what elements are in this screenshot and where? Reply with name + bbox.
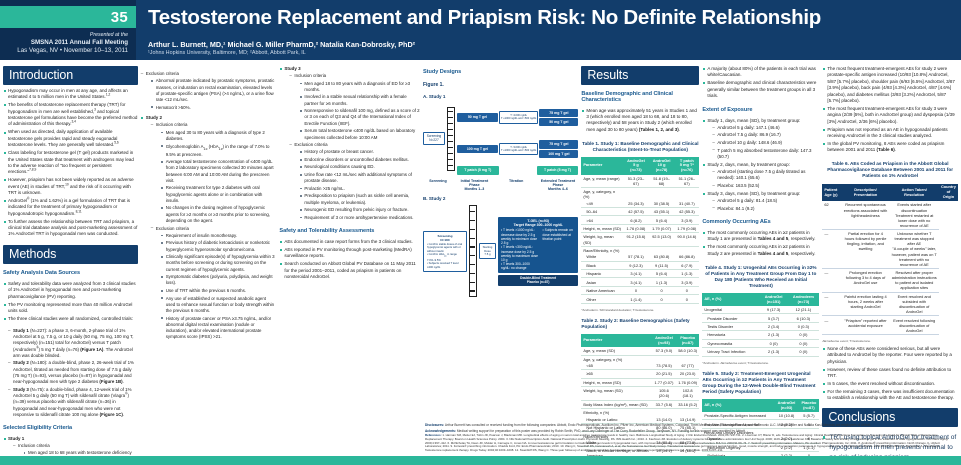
poster-number-band: 35	[0, 6, 136, 28]
references-text: 1. Harman SM, Metter EJ, Tobin JD, Pears…	[425, 433, 948, 452]
fig1a-phase-initial: Initial TreatmentPhaseMonths 1–3	[454, 179, 495, 192]
table-cell: Weight, kg, mean (SD)	[581, 387, 652, 401]
table-row: Prostate-Specific Antigen Increased10 (1…	[702, 412, 819, 420]
table-cell	[674, 246, 699, 253]
column-4-figures: Study Designs Figure 1. A. Study 1 Scree…	[423, 66, 578, 462]
table-row: Urinary Tract Infection2 (1.3)0 (0)	[702, 348, 819, 356]
table-cell: Height, m, mean (SD)	[581, 224, 623, 232]
table-cell: 51.8 (19–68)	[649, 175, 675, 188]
table-cell: "Priapism" reported after accidental exp…	[841, 316, 889, 335]
table-cell: Native American	[581, 286, 623, 294]
list-item: Glycohemoglobin A1c (HbA1c) in the range…	[161, 144, 277, 158]
table1: ParameterAndroGel5 g(n=73)AndroGel10 g(n…	[581, 157, 699, 304]
list-item: The most frequent treatment-emergent AEs…	[822, 106, 958, 125]
list-item: Class labeling for testosterone gel (T g…	[3, 150, 138, 176]
study1-exclusion-list: Abnormal prostate indicated by prostatic…	[151, 78, 277, 111]
table-cell: 0 (0)	[787, 331, 819, 339]
table-cell: 102.8 (18.1)	[676, 387, 699, 401]
table-cell: Hispanic	[581, 270, 623, 278]
list-item: Any use of established or suspected anab…	[161, 296, 277, 315]
section-methods-banner: Methods	[3, 245, 138, 264]
table-cell: 42 (57.5)	[623, 207, 649, 215]
list-item: To further assess the relationship betwe…	[3, 219, 138, 238]
table-cell: 31 (40.7)	[674, 199, 699, 207]
table-row: Age, y, category, n (%)	[581, 355, 699, 362]
table-cell: 2 (1.3)	[760, 331, 788, 339]
table-cell: 51.1 (26–67)	[674, 175, 699, 188]
table-cell: 0 (0.3)	[787, 322, 819, 330]
fig1b-tgel-box: T-GEL (n=93)Target Range 300–1000 ng/dL …	[498, 217, 578, 273]
table-cell: —	[822, 268, 841, 292]
table4-body: Urogenital9 (17.3)12 (21.1)Prostate Diso…	[702, 306, 819, 356]
table1-body: Age, y, mean (range)51.3 (23–67)51.8 (19…	[581, 175, 699, 304]
final-bullets: None of these AEs were considered seriou…	[822, 346, 958, 403]
table-cell: 5 (6.4)	[649, 216, 675, 224]
table-cell	[623, 188, 649, 200]
table-cell: 3 (3.9)	[674, 216, 699, 224]
table-cell	[652, 409, 676, 416]
list-item: Average total testosterone concentration…	[161, 159, 277, 184]
table-cell: 1 (1.3)	[674, 270, 699, 278]
table-cell: Testis Disorder	[702, 322, 759, 330]
table-cell: 1.79 (0.08)	[674, 224, 699, 232]
table-cell: 0	[674, 295, 699, 303]
introduction-bullets: Hypogonadism may occur in men at any age…	[3, 88, 138, 239]
table-cell: 105.6 (20.6)	[652, 387, 676, 401]
table-row: White57 (78.1)63 (80.8)66 (86.8)	[581, 253, 699, 261]
table-cell: Unknown whether T treatment was stopped …	[890, 230, 939, 269]
presented-at-label: Presented at the	[4, 32, 128, 39]
table-cell: Other	[581, 295, 623, 303]
table-cell: 9 (12.3)	[623, 261, 649, 269]
list-item: No changes in the dosing regimen of hypo…	[161, 205, 277, 224]
poster-title: Testosterone Replacement and Priapism Ri…	[148, 7, 951, 29]
table-cell	[676, 409, 699, 416]
table-cell: Partial erection for 4 hours followed by…	[841, 230, 889, 269]
study1-exclusion-label: Exclusion criteria	[146, 71, 179, 76]
table-cell: Recurrent spontaneous erections associat…	[841, 201, 889, 229]
poster-header: 35 Presented at the SMSNA 2011 Annual Fa…	[0, 0, 961, 62]
table-cell: Weight, kg, mean (SD)	[581, 233, 623, 247]
table1-footnote: *Androderm. SD=standard deviation; T=tes…	[581, 308, 699, 312]
table-cell: 9 (17.3)	[760, 306, 788, 314]
list-item: AndroGel 7.5 g daily: 86.9 (16.7)	[712, 132, 819, 138]
list-item: Clinically significant episode(s) of hyp…	[161, 254, 277, 273]
table-cell: Ethnicity, n (%)	[581, 409, 652, 416]
table1-header-row: ParameterAndroGel5 g(n=73)AndroGel10 g(n…	[581, 157, 699, 174]
study2-block: Study 2 Inclusion criteria Men aged 30 t…	[141, 115, 277, 342]
study2-inclusion-group: Inclusion criteria Men aged 30 to 80 yea…	[151, 122, 277, 340]
table-cell: Hematuria	[702, 331, 759, 339]
study3-label: Study 3	[284, 66, 300, 71]
study1-exclusion-group: Exclusion criteria Abnormal prostate ind…	[141, 71, 277, 112]
table4: AE, n (%)AndroGel(n=151)Androderm(n=73) …	[702, 293, 819, 356]
study3-exclusion-label: Exclusion criteria	[294, 142, 327, 147]
header-left-panel: 35 Presented at the SMSNA 2011 Annual Fa…	[0, 0, 136, 60]
column-header: Androderm(n=73)	[787, 293, 819, 306]
table-row: Other1 (1.4)00	[581, 295, 699, 303]
table-cell: 1.76 (0.09)	[676, 378, 699, 386]
table-cell: Event resolved and subsided with discont…	[890, 292, 939, 316]
table-cell: 6 (10.3)	[787, 314, 819, 322]
column-header: Placebo(n=87)	[676, 334, 699, 347]
table-cell	[676, 355, 699, 362]
table-cell: ≥65	[581, 370, 652, 378]
table-cell: 3 (3.9)	[674, 278, 699, 286]
table-row: Hematuria2 (1.3)0 (0)	[702, 331, 819, 339]
table-row: <4925 (34.3)30 (38.5)31 (40.7)	[581, 199, 699, 207]
table-cell	[649, 246, 675, 253]
list-item: For the remaining 3 cases, there was ins…	[822, 389, 958, 402]
table-row: —Painful erection lasting 4 hours, 2 wee…	[822, 292, 958, 316]
table-cell	[652, 355, 676, 362]
figure1-label: Figure 1.	[423, 82, 578, 88]
column-1: Introduction Hypogonadism may occur in m…	[3, 66, 138, 462]
fig1b-randomization-ladder	[469, 205, 477, 297]
list-item: AndroGel 10 g daily: 148.6 (46.9)	[712, 140, 819, 146]
table-row: Age, y, category, n (%)	[581, 188, 699, 200]
table-row: Black9 (12.3)9 (11.5)6 (7.9)	[581, 261, 699, 269]
column-header: Description/Presentation	[841, 184, 889, 201]
table-cell: 62	[822, 201, 841, 229]
table-cell: Painful erection lasting 4 hours, 2 week…	[841, 292, 889, 316]
study3-block: Study 3 Inclusion criteria Men aged 18 t…	[279, 66, 420, 222]
column-2: Exclusion criteria Abnormal prostate ind…	[141, 66, 277, 462]
table-cell: Race/Ethnicity, n (%)	[581, 246, 623, 253]
column-header: T patch5 mg T*(n=76)	[674, 157, 699, 174]
column-header: AndroGel5 g(n=73)	[623, 157, 649, 174]
exposure-study2-list: AndroGel (starting dose 7.5 g daily titr…	[712, 169, 819, 189]
table-cell: 10 (10.8)	[775, 412, 799, 420]
table-cell: 51.3 (23–67)	[623, 175, 649, 188]
table6-caption: Table 6. AEs Coded as Priapism in the Ab…	[822, 161, 958, 179]
list-item: History of prostate or breast cancer.	[299, 149, 420, 155]
table-cell: —	[822, 316, 841, 335]
study2-exclusion-list: Requirement of insulin monotherapy.Previ…	[161, 233, 277, 341]
list-item: Use of TRT within the previous 6 months.	[161, 288, 277, 294]
affiliations: ¹Johns Hopkins University, Baltimore, MD…	[148, 50, 951, 57]
fig1a-arm-1: 50 mg T gel	[457, 113, 498, 121]
results-right-bullets: A majority (about 80%) of the patients i…	[702, 66, 819, 101]
study-designs-head: Study Designs	[423, 69, 578, 75]
column-5-results: Results Baseline Demographic and Clinica…	[581, 66, 699, 462]
fig1a-arm-2: 100 mg T gel	[457, 145, 498, 153]
study3-groups: Inclusion criteria Men aged 18 to 80 yea…	[289, 73, 420, 221]
table-row: Urogenital9 (17.3)12 (21.1)	[702, 306, 819, 314]
table-row: Age, y, mean (SD)57.3 (9.0)58.0 (10.3)	[581, 347, 699, 355]
list-item: AndroGel (starting dose 7.5 g daily titr…	[712, 169, 819, 182]
poster-body: Introduction Hypogonadism may occur in m…	[0, 62, 961, 465]
table-cell: 6 (8.2)	[623, 216, 649, 224]
list-item: Neurological conditions causing ED.	[299, 164, 420, 170]
safety-data-sources-bullets: Safety and tolerability data were analyz…	[3, 281, 138, 324]
table-cell: 3 (4.1)	[623, 278, 649, 286]
table-row: —Prolonged erection following 3 to 4 day…	[822, 268, 958, 292]
fig1a-phase-extended: Extended TreatmentPhaseMonths 4–6	[538, 179, 579, 192]
list-item: AndroGel 5 g daily: 81.4 (18.5)	[712, 198, 819, 204]
fig1a-ext-2: 50 mg T gel	[539, 118, 578, 126]
table-cell: 0	[649, 295, 675, 303]
table-row: —"Priapism" reported after accidental ex…	[822, 316, 958, 335]
list-item: Prolactin >25 ng/mL.	[299, 186, 420, 192]
table2-caption: Table 2. Study 2: Baseline Demographics …	[581, 318, 699, 330]
section-results-banner: Results	[581, 66, 699, 85]
table-cell: 57 (78.1)	[623, 253, 649, 261]
fig1a-phase-screening: Screening	[423, 179, 453, 192]
table-row: Body Mass Index (kg/m²), mean (SD)33.7 (…	[581, 400, 699, 408]
table4-header-row: AE, n (%)AndroGel(n=151)Androderm(n=73)	[702, 293, 819, 306]
table-row: Height, m, mean (SD)1.76 (0.08)1.79 (0.0…	[581, 224, 699, 232]
meeting-location-date: Las Vegas, NV • November 10–13, 2011	[4, 47, 128, 55]
table-cell: <65	[581, 362, 652, 370]
table-cell: 66 (86.8)	[674, 253, 699, 261]
list-item: AndroGel 5 g daily: 147.1 (46.6)	[712, 125, 819, 131]
list-item: Baseline demographic and clinical charac…	[702, 80, 819, 99]
fig1a-ext-4: 100 mg T gel	[539, 150, 578, 158]
table-row: Age, y, mean (range)51.3 (23–67)51.8 (19…	[581, 175, 699, 188]
fig1a-titration-2: T <1000 ng/dLT ≤1000 ng/dL and >500 ng/d…	[499, 143, 538, 155]
table-cell: 1 (1.3)	[649, 278, 675, 286]
exposure-study1-list: AndroGel 5 g daily: 147.1 (46.6)AndroGel…	[712, 125, 819, 160]
exposure-study3-label: Study 3, days, mean (SD), by treatment g…	[707, 191, 800, 196]
exposure-study2-label: Study 2, days, mean, by treatment group:	[707, 162, 790, 167]
fig1a-screening-box: ScreeningN=227	[423, 132, 445, 146]
table-row: Weight, kg, mean (SD)105.6 (20.6)102.8 (…	[581, 387, 699, 401]
fig1b-starting-dose: StartingDose7.5 g	[479, 243, 496, 259]
list-item: Safety and tolerability data were analyz…	[3, 281, 138, 300]
list-item: Study 3 (N=75): a double-blind, phase 4,…	[8, 387, 138, 418]
table-cell: Prolonged erection following 3 to 4 days…	[841, 268, 889, 292]
poster-number: 35	[111, 9, 128, 26]
column-header: AE, n (%)	[702, 399, 774, 412]
table1-caption: Table 1. Study 1: Baseline Demographic a…	[581, 141, 699, 153]
list-item: Symptomatic diabetes (polyuria, polydips…	[161, 274, 277, 287]
fig1b-screening-box: ScreeningN=180 • Confirm stable doses of…	[423, 231, 467, 272]
list-item: When used as directed, daily application…	[3, 129, 138, 148]
table-cell: Asian	[581, 278, 623, 286]
table-cell: 57.3 (9.0)	[652, 347, 676, 355]
exposure-study1-label: Study 1, days, mean (SD), by treatment g…	[707, 118, 800, 123]
disclosures-text: Arthur Burnett has consulted or received…	[445, 423, 871, 427]
table-row: Race/Ethnicity, n (%)	[581, 246, 699, 253]
study3-exclusion-list: History of prostate or breast cancer.End…	[299, 149, 420, 221]
list-item: In the global PV monitoring, 8 AEs were …	[822, 141, 958, 154]
table-row: Asian3 (4.1)1 (1.3)3 (3.9)	[581, 278, 699, 286]
column-header: Patient Age (y)	[822, 184, 841, 201]
list-item: The most frequent treatment-emergent AEs…	[822, 66, 958, 104]
table-cell: 73 (78.5)	[652, 362, 676, 370]
table-cell: 0	[649, 286, 675, 294]
column-header: AE, n (%)	[702, 293, 759, 306]
list-item: The PV monitoring represented more than …	[3, 302, 138, 315]
disclosures-label: Disclosures:	[425, 423, 444, 427]
table-row: ≥6520 (21.5)20 (23.0)	[581, 370, 699, 378]
table5-header-row: AE, n (%)AndroGel(n=93)Placebo(n=87)	[702, 399, 819, 412]
safety-assessments-bullets: AEs documented in case report forms from…	[279, 239, 420, 282]
common-aes-bullets: The most commonly occurring AEs in ≥2 pa…	[702, 230, 819, 259]
list-item: The benefits of testosterone replacement…	[3, 102, 138, 128]
table-cell: 1.76 (0.08)	[623, 224, 649, 232]
list-item: AEs documented in case report forms from…	[279, 239, 420, 245]
table5-caption: Table 5. Study 2: Treatment-Emergent Uro…	[702, 371, 819, 395]
list-item: Study 1 (N=227): a phase 3, 6-month, 2-p…	[8, 328, 138, 359]
table-cell: Resolved after proper administration ins…	[890, 268, 939, 292]
column-header: Parameter	[581, 157, 623, 174]
table-cell: 9 (11.5)	[649, 261, 675, 269]
disclosures-line: Disclosures: Arthur Burnett has consulte…	[425, 423, 955, 427]
list-item: Requirement of 3 or more antihypertensiv…	[299, 215, 420, 221]
list-item: History of prostate cancer or PSA ≥3.75 …	[161, 316, 277, 341]
list-item: Urine flow rate <12 mL/sec with addition…	[299, 172, 420, 185]
column-header: AndroGel(n=151)	[760, 293, 788, 306]
list-item: Nonresponsive to sildenafil 100 mg, defi…	[299, 108, 420, 127]
table-row: Testis Disorder2 (3.4)0 (0.3)	[702, 322, 819, 330]
poster-root: 35 Presented at the SMSNA 2011 Annual Fa…	[0, 0, 961, 465]
table-cell: Age, y, category, n (%)	[581, 188, 623, 200]
table-cell: 0 (0)	[787, 339, 819, 347]
list-item: None of these AEs were considered seriou…	[822, 346, 958, 365]
table6: Patient Age (y)Description/PresentationA…	[822, 184, 958, 335]
safety-data-sources-head: Safety Analysis Data Sources	[3, 270, 138, 276]
fig1a-phase-titration: Titration	[496, 179, 537, 192]
extent-of-exposure-head: Extent of Exposure	[702, 107, 819, 113]
list-item: Placebo: 84.1 (9.2)	[712, 206, 819, 212]
study3-inclusion-list: Men aged 18 to 80 years with a diagnosis…	[299, 81, 420, 141]
table-cell: 20 (21.5)	[652, 370, 676, 378]
table-cell: 33.7 (5.6)	[652, 400, 676, 408]
table-cell: 2 (1.3)	[760, 348, 788, 356]
table-cell: <49	[581, 199, 623, 207]
table-cell: 5 (6.4)	[649, 270, 675, 278]
column-header: Action Taken/Resolution	[890, 184, 939, 201]
table-cell: 0	[623, 286, 649, 294]
results-right-col-bullets: The most frequent treatment-emergent AEs…	[822, 66, 958, 155]
fig1a-arm-3: T patch (5 mg T)	[457, 166, 499, 174]
table-cell: Body Mass Index (kg/m²), mean (SD)	[581, 400, 652, 408]
figure1a-flowchart: ScreeningN=227 50 mg T gel T >1000 ng/dL…	[423, 103, 578, 175]
footer-accent-bar	[0, 456, 961, 465]
table-cell: Age, y, mean (SD)	[581, 347, 652, 355]
table-cell: 91.2 (15.6)	[623, 233, 649, 247]
list-item: Previous history of diabetic ketoacidosi…	[161, 240, 277, 253]
fig1b-placebo-box: Double-Blind TreatmentPlacebo (n=87)	[498, 275, 578, 287]
table-cell: 0	[674, 286, 699, 294]
table-row: Hispanic3 (4.1)5 (6.4)1 (1.3)	[581, 270, 699, 278]
exposure-study1: Study 1, days, mean (SD), by treatment g…	[702, 118, 819, 214]
table-cell: 30 (38.5)	[649, 199, 675, 207]
table-cell	[649, 188, 675, 200]
table-cell: 25 (34.3)	[623, 199, 649, 207]
study3-inclusion-label: Inclusion criteria	[294, 73, 326, 78]
list-item: Placebo: 163.5 (52.5)	[712, 183, 819, 189]
table4-footnote: *Androderm. AE=adverse event; T=testoste…	[702, 361, 819, 365]
column-7: The most frequent treatment-emergent AEs…	[822, 66, 958, 462]
list-item: AndroGel® (1% and 1.62%) is a gel formul…	[3, 198, 138, 217]
table-row: Prostate Disorder5 (3.7)6 (10.3)	[702, 314, 819, 322]
table-cell: —	[822, 230, 841, 269]
meeting-info: Presented at the SMSNA 2011 Annual Fall …	[0, 28, 136, 55]
figure1b-flowchart: ScreeningN=180 • Confirm stable doses of…	[423, 205, 578, 297]
table-cell: 12 (21.1)	[787, 306, 819, 314]
column-6: A majority (about 80%) of the patients i…	[702, 66, 819, 462]
table-cell: 20 (23.0)	[676, 370, 699, 378]
table-cell: 0 (0)	[760, 339, 788, 347]
table-cell: 1.77 (0.07)	[652, 378, 676, 386]
baseline-demographics-head: Baseline Demographic and Clinical Charac…	[581, 91, 699, 103]
table-cell: Urinary Tract Infection	[702, 348, 759, 356]
table-cell: Prostate-Specific Antigen Increased	[702, 412, 774, 420]
study2-inclusion-label: Inclusion criteria	[156, 122, 188, 127]
table-cell: 1 (1.4)	[623, 295, 649, 303]
table-cell: 6 (7.9)	[674, 261, 699, 269]
table-cell: 63 (80.8)	[649, 253, 675, 261]
author-list: Arthur L. Burnett, MD,¹ Michael G. Mille…	[148, 40, 951, 49]
references-line: References: 1. Harman SM, Metter EJ, Tob…	[425, 434, 955, 453]
list-item: The most commonly occurring AEs in ≥2 pa…	[702, 230, 819, 243]
list-item: Neurogenic ED resulting from pelvic inju…	[299, 207, 420, 213]
list-item: Search conducted on Abbott Global PV Dat…	[279, 261, 420, 280]
table-cell: 5 (3.7)	[760, 314, 788, 322]
column-header: Parameter	[581, 334, 652, 347]
fig1a-ext-3: 75 mg T gel	[539, 140, 578, 148]
figure1b-label: B. Study 2	[423, 196, 578, 201]
table-cell: Gynecomastia	[702, 339, 759, 347]
table6-header-row: Patient Age (y)Description/PresentationA…	[822, 184, 958, 201]
table-cell: White	[581, 253, 623, 261]
table-row: Weight, kg, mean (SD)91.2 (15.6)92.5 (13…	[581, 233, 699, 247]
figure1a-label: A. Study 1	[423, 94, 578, 99]
common-aes-head: Commonly Occurring AEs	[702, 219, 819, 225]
table-cell: Age, y, mean (range)	[581, 175, 623, 188]
table-cell: Event resolved following discontinuation…	[890, 316, 939, 335]
table-cell: 2 (3.4)	[760, 322, 788, 330]
table-cell	[623, 246, 649, 253]
table-cell: 50–64	[581, 207, 623, 215]
table-cell: 1.79 (0.07)	[649, 224, 675, 232]
table-cell: 92.5 (13.0)	[649, 233, 675, 247]
column-header: AndroGel10 g(n=78)	[649, 157, 675, 174]
table4-caption: Table 4. Study 1: Urogenital AEs Occurri…	[702, 265, 819, 289]
column-header: AndroGel(n=93)	[652, 334, 676, 347]
table-cell: Urogenital	[702, 306, 759, 314]
table-cell: 58.0 (10.3)	[676, 347, 699, 355]
list-item: Involved in a stable sexual relationship…	[299, 94, 420, 107]
methods-studies-list: Study 1 (N=227): a phase 3, 6-month, 2-p…	[8, 328, 138, 419]
list-item: However, review of these cases found no …	[822, 367, 958, 380]
meeting-name: SMSNA 2011 Annual Fall Meeting	[4, 39, 128, 47]
baseline-bullets: Mean age was approximately 51 years in S…	[581, 108, 699, 135]
table-cell: Height, m, mean (SD)	[581, 378, 652, 386]
table-cell: —	[822, 292, 841, 316]
table-cell: 67 (77)	[676, 362, 699, 370]
poster-footer: Disclosures: Arthur Burnett has consulte…	[0, 421, 961, 456]
table-row: Gynecomastia0 (0)0 (0)	[702, 339, 819, 347]
column-header: AndroGel(n=93)	[775, 399, 799, 412]
column-3: Study 3 Inclusion criteria Men aged 18 t…	[279, 66, 420, 462]
table2-header-row: ParameterAndroGel(n=93)Placebo(n=87)	[581, 334, 699, 347]
fig1a-titration-1: T >1000 ng/dLT ≤1000 ng/dL and >500 ng/d…	[499, 111, 538, 123]
table-cell: 33.16 (5.2)	[676, 400, 699, 408]
table6-body: 62Recurrent spontaneous erections associ…	[822, 201, 958, 334]
list-item: Priapism was not reported as an AE in hy…	[822, 127, 958, 140]
list-item: Men aged 30 to 80 years with a diagnosis…	[161, 130, 277, 143]
table-cell: 5 (5.7)	[798, 412, 819, 420]
list-item: A majority (about 80%) of the patients i…	[702, 66, 819, 79]
fig1a-randomization-ladder	[447, 107, 455, 171]
table-row: Height, m, mean (SD)1.77 (0.07)1.76 (0.0…	[581, 378, 699, 386]
table-cell	[674, 188, 699, 200]
table-row: 62Recurrent spontaneous erections associ…	[822, 201, 958, 229]
